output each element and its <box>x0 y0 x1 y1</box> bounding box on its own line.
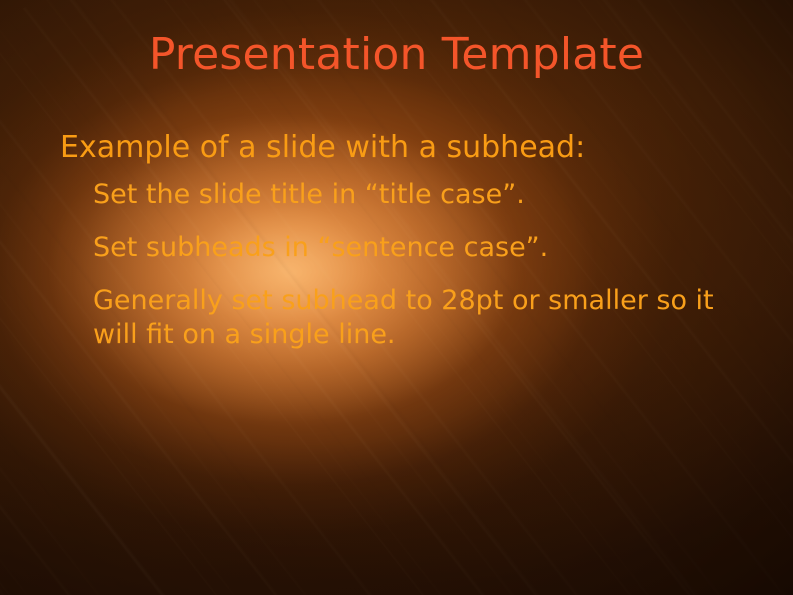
presentation-slide: Presentation Template Example of a slide… <box>0 0 793 595</box>
bullet-level1: Example of a slide with a subhead: <box>60 128 765 168</box>
bullet-level2-font-size: Generally set subhead to 28pt or smaller… <box>60 284 765 352</box>
bullet-level2-title-case: Set the slide title in “title case”. <box>60 178 765 212</box>
slide-content: Presentation Template Example of a slide… <box>0 0 793 595</box>
slide-body: Example of a slide with a subhead: Set t… <box>60 128 765 352</box>
slide-title: Presentation Template <box>0 26 793 84</box>
bullet-level2-sentence-case: Set subheads in “sentence case”. <box>60 231 765 265</box>
